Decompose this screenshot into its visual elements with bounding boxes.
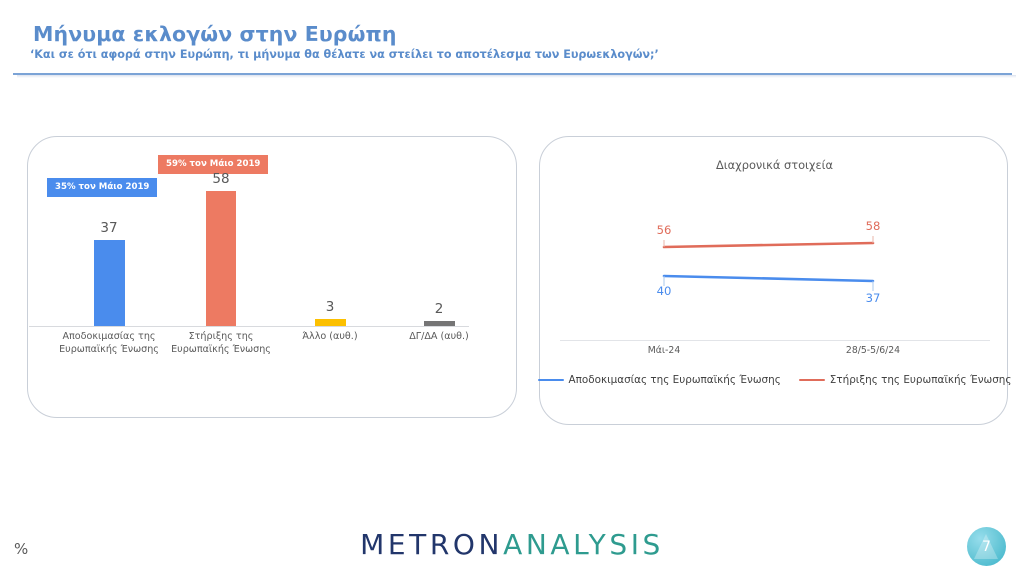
- point-label-stirixis-start: 56: [634, 223, 694, 237]
- metron-analysis-logo: METRONANALYSIS: [0, 528, 1024, 561]
- point-label-aposokimasias-start: 40: [634, 284, 694, 298]
- logo-metron: METRON: [360, 528, 503, 561]
- bar-allo[interactable]: [315, 319, 346, 326]
- page-number: 7: [967, 527, 1006, 566]
- bar-category-aposokimasias: Αποδοκιμασίας της Ευρωπαϊκής Ένωσης: [49, 331, 169, 356]
- bar-dgda[interactable]: [424, 321, 455, 326]
- bar-value-aposokimasias: 37: [64, 220, 154, 236]
- line-chart-card: Διαχρονικά στοιχεία 56 58 40 37 Μάι-24 2…: [539, 136, 1008, 425]
- bar-aposokimasias[interactable]: [94, 240, 125, 326]
- bar-chart-axis-line: [29, 326, 469, 327]
- bar-chart-card: 35% τον Μάιο 2019 59% τον Μάιο 2019 37 Α…: [27, 136, 517, 418]
- x-tick-label-1: 28/5-5/6/24: [813, 345, 933, 356]
- annotation-badge-blue: 35% τον Μάιο 2019: [47, 178, 157, 197]
- header-divider-shadow: [17, 75, 1016, 78]
- bar-category-dgda: ΔΓ/ΔΑ (αυθ.): [379, 331, 499, 344]
- point-label-aposokimasias-end: 37: [843, 291, 903, 305]
- x-tick-label-0: Μάι-24: [604, 345, 724, 356]
- point-label-stirixis-end: 58: [843, 219, 903, 233]
- legend-label-aposokimasias: Αποδοκιμασίας της Ευρωπαϊκής Ένωσης: [569, 374, 781, 386]
- bar-value-dgda: 2: [394, 301, 484, 317]
- legend-item-stirixis[interactable]: Στήριξης της Ευρωπαϊκής Ένωσης: [799, 374, 1012, 386]
- bar-stirixis[interactable]: [206, 191, 236, 326]
- legend-swatch-red: [799, 379, 825, 382]
- logo-analysis: ANALYSIS: [503, 528, 664, 561]
- bar-category-stirixis: Στήριξης της Ευρωπαϊκής Ένωσης: [161, 331, 281, 356]
- slide-header: Μήνυμα εκλογών στην Ευρώπη ‘Και σε ότι α…: [0, 0, 1024, 80]
- legend-swatch-blue: [538, 379, 564, 382]
- page-title: Μήνυμα εκλογών στην Ευρώπη: [33, 22, 397, 46]
- bar-chart: 35% τον Μάιο 2019 59% τον Μάιο 2019 37 Α…: [28, 137, 518, 419]
- bar-category-allo: Άλλο (αυθ.): [270, 331, 390, 344]
- page-number-badge: 7: [967, 527, 1006, 566]
- bar-value-allo: 3: [285, 299, 375, 315]
- legend-label-stirixis: Στήριξης της Ευρωπαϊκής Ένωσης: [830, 374, 1012, 386]
- legend-item-aposokimasias[interactable]: Αποδοκιμασίας της Ευρωπαϊκής Ένωσης: [538, 374, 781, 386]
- page-subtitle: ‘Και σε ότι αφορά στην Ευρώπη, τι μήνυμα…: [30, 48, 659, 61]
- series-line-aposokimasias: [664, 276, 873, 281]
- line-chart-legend: Αποδοκιμασίας της Ευρωπαϊκής Ένωσης Στήρ…: [540, 374, 1009, 386]
- bar-value-stirixis: 58: [176, 171, 266, 187]
- series-line-stirixis: [664, 243, 873, 247]
- line-chart: Διαχρονικά στοιχεία 56 58 40 37 Μάι-24 2…: [540, 137, 1009, 426]
